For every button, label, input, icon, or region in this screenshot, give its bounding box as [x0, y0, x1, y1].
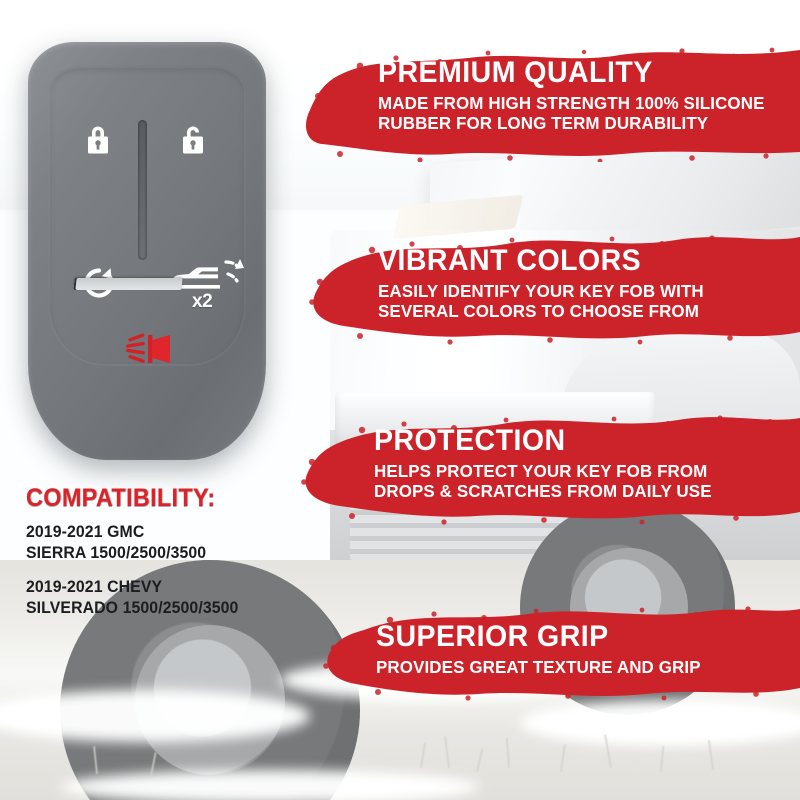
- product-infographic: x2: [0, 0, 800, 800]
- compatibility-gmc-line-2: SIERRA 1500/2500/3500: [26, 543, 314, 564]
- feature-line-1: MADE FROM HIGH STRENGTH 100% SILICONE: [378, 94, 787, 114]
- feature-line-1: EASILY IDENTIFY YOUR KEY FOB WITH: [378, 282, 787, 302]
- key-fob-center-groove: [138, 120, 147, 260]
- feature-banner-vibrant-colors: VIBRANT COLORS EASILY IDENTIFY YOUR KEY …: [300, 232, 800, 352]
- feature-line-2: RUBBER FOR LONG TERM DURABILITY: [378, 114, 787, 134]
- feature-title: PROTECTION: [374, 426, 779, 456]
- tailgate-x2-label: x2: [192, 291, 212, 313]
- feature-banner-protection: PROTECTION HELPS PROTECT YOUR KEY FOB FR…: [296, 410, 800, 532]
- feature-line-1: PROVIDES GREAT TEXTURE AND GRIP: [376, 658, 787, 678]
- compatibility-heading: COMPATIBILITY:: [26, 484, 308, 513]
- unlock-icon: [180, 122, 212, 163]
- feature-banner-superior-grip: SUPERIOR GRIP PROVIDES GREAT TEXTURE AND…: [312, 604, 800, 708]
- key-fob-recessed-panel: [48, 66, 246, 366]
- compatibility-chevy-line-2: SILVERADO 1500/2500/3500: [26, 598, 314, 619]
- compatibility-chevy-line-1: 2019-2021 CHEVY: [26, 577, 314, 598]
- feature-line-2: DROPS & SCRATCHES FROM DAILY USE: [374, 482, 787, 502]
- lock-icon: [83, 122, 113, 163]
- key-fob-cover: x2: [28, 42, 266, 460]
- feature-title: SUPERIOR GRIP: [376, 622, 779, 652]
- feature-line-2: SEVERAL COLORS TO CHOOSE FROM: [378, 302, 787, 322]
- feature-banner-premium-quality: PREMIUM QUALITY MADE FROM HIGH STRENGTH …: [300, 44, 800, 162]
- feature-line-1: HELPS PROTECT YOUR KEY FOB FROM: [374, 462, 787, 482]
- feature-title: PREMIUM QUALITY: [378, 58, 779, 88]
- panic-alarm-icon: [122, 332, 178, 371]
- compatibility-block: COMPATIBILITY: 2019-2021 GMC SIERRA 1500…: [26, 484, 326, 619]
- key-fob-bottom-cutout: [73, 278, 182, 290]
- compatibility-gmc-line-1: 2019-2021 GMC: [26, 522, 314, 543]
- feature-title: VIBRANT COLORS: [378, 246, 779, 276]
